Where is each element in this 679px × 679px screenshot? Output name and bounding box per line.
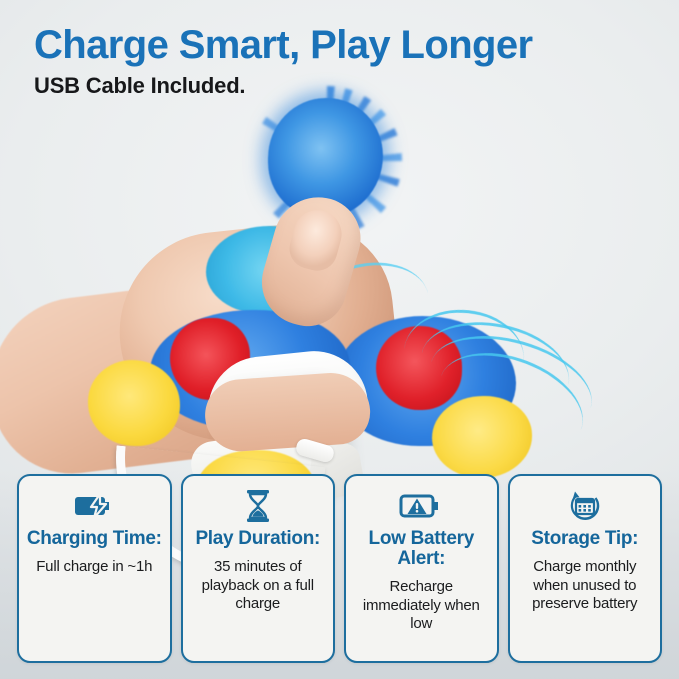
feature-card-storage-tip: Storage Tip: Charge monthly when unused …	[508, 474, 663, 663]
feature-card-play-duration: Play Duration: 35 minutes of playback on…	[181, 474, 336, 663]
feature-cards: Charging Time: Full charge in ~1h Play D…	[17, 474, 662, 663]
battery-warning-icon	[399, 489, 443, 523]
feature-card-desc: Recharge immediately when low	[352, 578, 491, 634]
battery-charging-icon	[73, 489, 115, 523]
product-photo	[0, 78, 679, 478]
feature-card-desc: 35 minutes of playback on a full charge	[189, 558, 328, 614]
feature-card-title: Play Duration:	[195, 529, 320, 549]
header: Charge Smart, Play Longer USB Cable Incl…	[34, 24, 532, 99]
feather-yellow-left	[88, 360, 180, 446]
page-subtitle: USB Cable Included.	[34, 73, 532, 99]
hourglass-icon	[243, 489, 273, 523]
page-title: Charge Smart, Play Longer	[34, 24, 532, 66]
feature-card-low-battery-alert: Low Battery Alert: Recharge immediately …	[344, 474, 499, 663]
feature-card-title: Low Battery Alert:	[352, 529, 491, 569]
feature-card-charging-time: Charging Time: Full charge in ~1h	[17, 474, 172, 663]
feature-card-desc: Charge monthly when unused to preserve b…	[516, 558, 655, 614]
feature-card-title: Charging Time:	[27, 529, 162, 549]
feature-card-desc: Full charge in ~1h	[36, 558, 152, 577]
feature-card-title: Storage Tip:	[531, 529, 638, 549]
fingers-lower	[203, 370, 373, 453]
page-root: Charge Smart, Play Longer USB Cable Incl…	[0, 0, 679, 679]
calendar-refresh-icon	[567, 489, 603, 523]
